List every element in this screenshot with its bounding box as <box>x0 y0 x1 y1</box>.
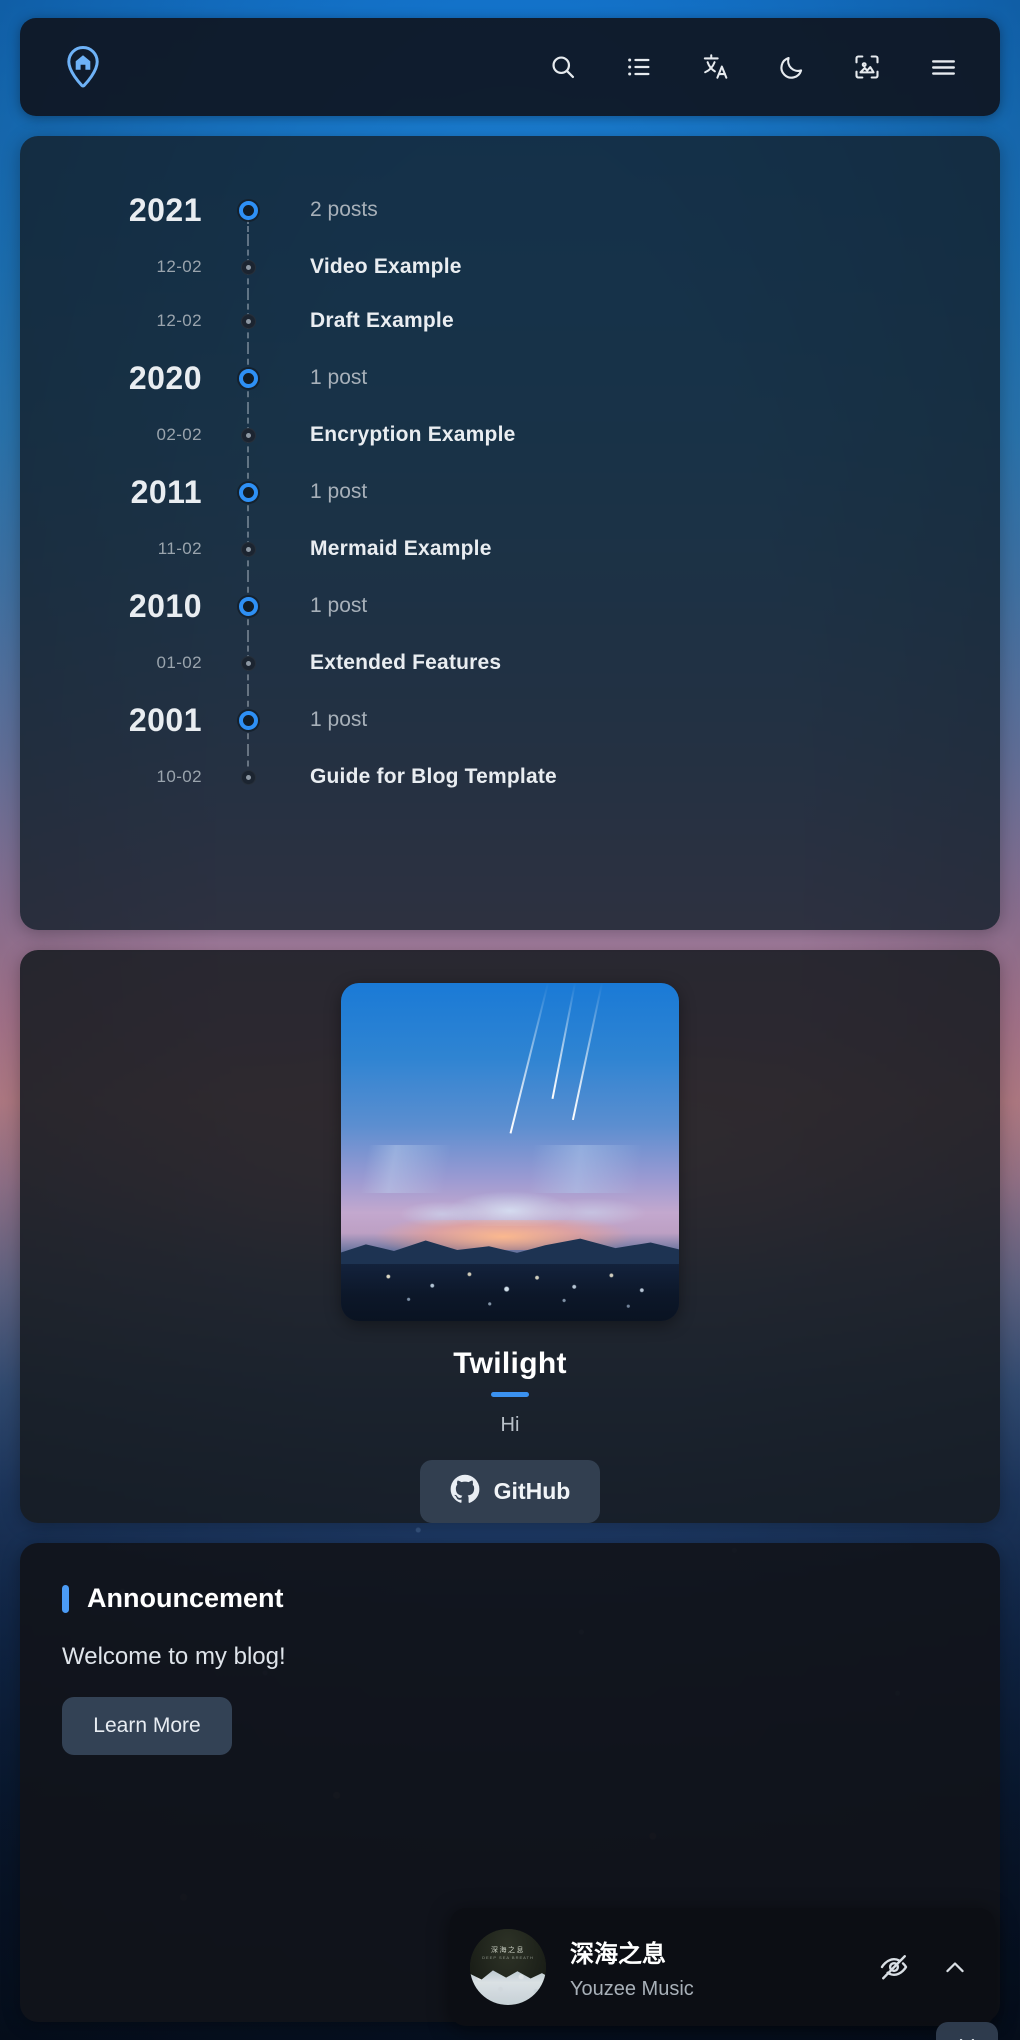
header-actions <box>546 50 960 84</box>
home-pin-logo[interactable] <box>60 44 106 90</box>
timeline-post-count: 2 posts <box>310 198 378 221</box>
timeline-post-title[interactable]: Draft Example <box>310 309 454 332</box>
timeline-post-row[interactable]: 12-02Draft Example <box>20 294 1000 348</box>
timeline-axis <box>230 408 266 462</box>
timeline-year-count-cell: 1 post <box>266 366 1000 390</box>
timeline-post-dot <box>241 314 256 329</box>
timeline-year-count-cell: 2 posts <box>266 198 1000 222</box>
timeline-title-cell: Guide for Blog Template <box>266 765 1000 789</box>
timeline-year-count-cell: 1 post <box>266 708 1000 732</box>
timeline-post-date: 12-02 <box>157 257 202 276</box>
chevron-up-icon[interactable] <box>941 1953 969 1981</box>
timeline-post-dot <box>241 428 256 443</box>
music-meta: 深海之息 Youzee Music <box>546 1934 879 2001</box>
timeline-year-dot <box>239 201 258 220</box>
music-track-artist: Youzee Music <box>570 1978 879 2001</box>
github-icon <box>450 1474 480 1509</box>
timeline-date-cell: 10-02 <box>20 767 230 787</box>
eye-slash-icon[interactable] <box>879 1952 909 1982</box>
profile-divider <box>491 1392 529 1397</box>
timeline-axis <box>230 240 266 294</box>
timeline-post-dot <box>241 260 256 275</box>
timeline-post-date: 02-02 <box>157 425 202 444</box>
timeline-year-dot <box>239 597 258 616</box>
timeline-post-date: 11-02 <box>158 539 202 558</box>
timeline-year-label: 2020 <box>129 360 202 396</box>
timeline-year-row: 20212 posts <box>20 180 1000 240</box>
timeline-post-title[interactable]: Encryption Example <box>310 423 516 446</box>
timeline-axis <box>230 348 266 408</box>
timeline-date-cell: 12-02 <box>20 257 230 277</box>
announcement-accent-bar <box>62 1585 69 1613</box>
timeline-post-title[interactable]: Extended Features <box>310 651 501 674</box>
timeline-post-title[interactable]: Mermaid Example <box>310 537 492 560</box>
timeline-date-cell: 02-02 <box>20 425 230 445</box>
timeline-title-cell: Video Example <box>266 255 1000 279</box>
timeline-date-cell: 01-02 <box>20 653 230 673</box>
timeline-post-title[interactable]: Guide for Blog Template <box>310 765 557 788</box>
page-root: 20212 posts12-02Video Example12-02Draft … <box>0 0 1020 2040</box>
timeline-axis <box>230 180 266 240</box>
announcement-title: Announcement <box>87 1583 284 1614</box>
close-icon <box>955 2034 979 2040</box>
timeline-post-row[interactable]: 02-02Encryption Example <box>20 408 1000 462</box>
moon-icon[interactable] <box>774 50 808 84</box>
timeline-axis <box>230 462 266 522</box>
timeline-axis <box>230 636 266 690</box>
timeline-post-dot <box>241 656 256 671</box>
timeline-year-label: 2011 <box>131 474 202 510</box>
timeline-year-row: 20201 post <box>20 348 1000 408</box>
timeline-post-row[interactable]: 11-02Mermaid Example <box>20 522 1000 576</box>
timeline-post-dot <box>241 542 256 557</box>
timeline-year-cell: 2011 <box>20 474 230 511</box>
timeline-post-count: 1 post <box>310 366 367 389</box>
timeline-year-row: 20011 post <box>20 690 1000 750</box>
timeline-year-cell: 2001 <box>20 702 230 739</box>
timeline-axis <box>230 576 266 636</box>
album-art-subtitle: DEEP SEA BREATH <box>470 1955 546 1960</box>
timeline-year-dot <box>239 369 258 388</box>
timeline-post-date: 10-02 <box>157 767 202 786</box>
timeline-post-date: 01-02 <box>157 653 202 672</box>
timeline-year-label: 2010 <box>129 588 202 624</box>
music-player: 深海之息 DEEP SEA BREATH 深海之息 Youzee Music <box>450 1908 995 2026</box>
timeline-axis <box>230 522 266 576</box>
timeline-post-row[interactable]: 01-02Extended Features <box>20 636 1000 690</box>
timeline-year-dot <box>239 711 258 730</box>
timeline-axis <box>230 690 266 750</box>
timeline-year-count-cell: 1 post <box>266 480 1000 504</box>
archive-timeline-card: 20212 posts12-02Video Example12-02Draft … <box>20 136 1000 930</box>
github-button[interactable]: GitHub <box>420 1460 601 1523</box>
timeline-axis <box>230 750 266 804</box>
timeline-title-cell: Mermaid Example <box>266 537 1000 561</box>
timeline-date-cell: 11-02 <box>20 539 230 559</box>
list-icon[interactable] <box>622 50 656 84</box>
profile-bio: Hi <box>501 1414 520 1437</box>
timeline-year-label: 2001 <box>129 702 202 738</box>
music-actions <box>879 1952 969 1982</box>
timeline-year-dot <box>239 483 258 502</box>
timeline-post-title[interactable]: Video Example <box>310 255 462 278</box>
translate-icon[interactable] <box>698 50 732 84</box>
timeline-post-count: 1 post <box>310 708 367 731</box>
timeline-year-row: 20101 post <box>20 576 1000 636</box>
timeline-post-count: 1 post <box>310 480 367 503</box>
timeline-title-cell: Draft Example <box>266 309 1000 333</box>
timeline-year-row: 20111 post <box>20 462 1000 522</box>
timeline-year-label: 2021 <box>129 192 202 228</box>
timeline-list: 20212 posts12-02Video Example12-02Draft … <box>20 180 1000 804</box>
music-track-title: 深海之息 <box>570 1934 879 1969</box>
timeline-post-count: 1 post <box>310 594 367 617</box>
timeline-year-cell: 2010 <box>20 588 230 625</box>
timeline-post-row[interactable]: 10-02Guide for Blog Template <box>20 750 1000 804</box>
timeline-post-row[interactable]: 12-02Video Example <box>20 240 1000 294</box>
image-icon[interactable] <box>850 50 884 84</box>
timeline-post-date: 12-02 <box>157 311 202 330</box>
profile-card: Twilight Hi GitHub <box>20 950 1000 1523</box>
timeline-date-cell: 12-02 <box>20 311 230 331</box>
site-header <box>20 18 1000 116</box>
timeline-title-cell: Extended Features <box>266 651 1000 675</box>
search-icon[interactable] <box>546 50 580 84</box>
twilight-landscape-avatar <box>341 983 679 1321</box>
album-art-title: 深海之息 <box>470 1945 546 1955</box>
timeline-axis <box>230 294 266 348</box>
timeline-year-count-cell: 1 post <box>266 594 1000 618</box>
learn-more-button[interactable]: Learn More <box>62 1697 232 1755</box>
timeline-year-cell: 2020 <box>20 360 230 397</box>
github-button-label: GitHub <box>494 1478 571 1505</box>
profile-name: Twilight <box>453 1347 566 1381</box>
announcement-body: Welcome to my blog! <box>62 1643 958 1671</box>
close-button[interactable] <box>936 2022 998 2040</box>
timeline-post-dot <box>241 770 256 785</box>
album-art: 深海之息 DEEP SEA BREATH <box>470 1929 546 2005</box>
timeline-title-cell: Encryption Example <box>266 423 1000 447</box>
menu-icon[interactable] <box>926 50 960 84</box>
announcement-header: Announcement <box>62 1583 958 1614</box>
timeline-year-cell: 2021 <box>20 192 230 229</box>
